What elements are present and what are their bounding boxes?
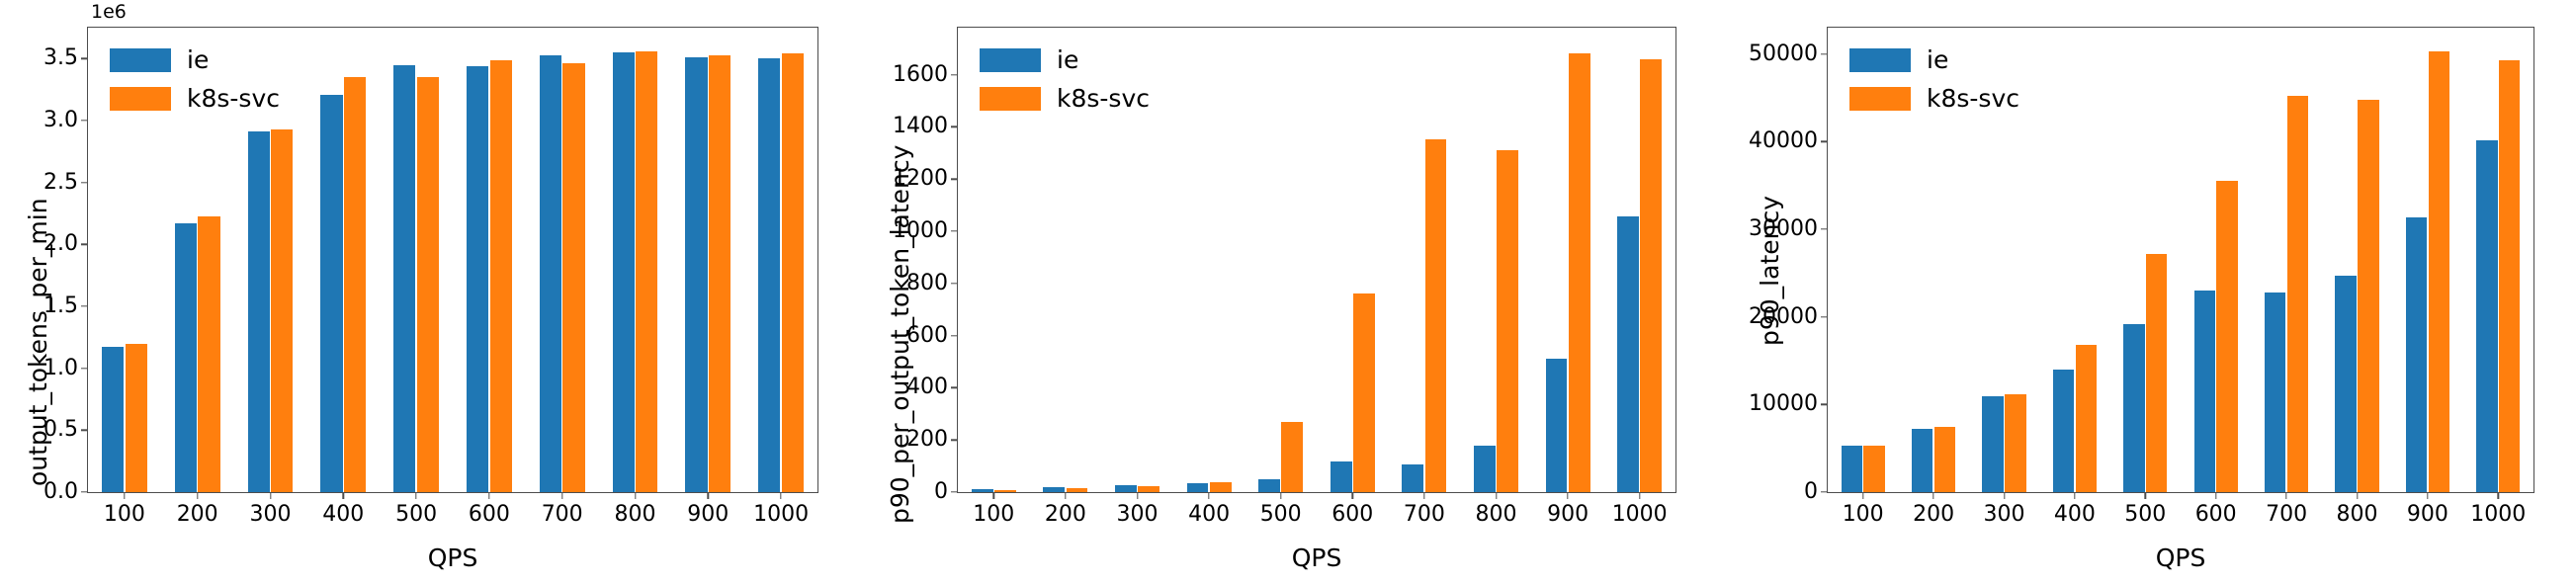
plot-axes-1: 0.00.51.01.52.02.53.03.51002003004005006… [87,27,818,493]
y-tick-mark-2-3 [951,335,958,336]
bar-ie-600 [1331,461,1352,492]
bar-k8s-svc-700 [2287,96,2308,492]
y-tick-mark-1-0 [81,491,88,492]
bar-ie-100 [102,347,124,492]
legend-item-ie[interactable]: ie [110,47,280,72]
x-tick-mark-3-900 [2427,492,2428,499]
x-tick-mark-1-800 [635,492,636,499]
legend-label-k8s-svc: k8s-svc [1927,86,2019,111]
bar-ie-100 [972,489,993,492]
bar-ie-1000 [758,58,780,492]
plot-axes-2: 0200400600800100012001400160010020030040… [957,27,1676,493]
x-tick-mark-2-400 [1208,492,1209,499]
bar-ie-700 [2265,292,2285,492]
y-tick-label-2-5: 1000 [893,220,958,242]
bar-ie-300 [248,131,270,492]
bar-k8s-svc-600 [2216,181,2237,492]
bar-ie-1000 [2476,140,2497,492]
x-tick-mark-2-600 [1352,492,1353,499]
bar-ie-200 [175,223,197,492]
bar-ie-600 [467,66,488,492]
bar-k8s-svc-600 [490,60,512,492]
legend-swatch-k8s-svc-icon [110,87,171,111]
y-tick-mark-2-7 [951,126,958,127]
y-tick-mark-1-4 [81,244,88,245]
bar-ie-700 [1402,464,1423,492]
bar-k8s-svc-100 [994,490,1016,492]
x-tick-mark-1-100 [124,492,125,499]
y-tick-mark-1-2 [81,368,88,369]
bar-k8s-svc-900 [2429,51,2449,492]
y-tick-mark-1-6 [81,120,88,121]
bar-ie-300 [1982,396,2003,492]
chart-panel-1: 1e6 output_tokens_per_min QPS 0.00.51.01… [0,0,858,585]
y-tick-label-3-2: 20000 [1749,306,1828,328]
y-tick-mark-1-5 [81,182,88,183]
y-tick-mark-2-5 [951,230,958,231]
bar-ie-500 [2123,324,2144,492]
y-tick-label-2-7: 1400 [893,116,958,137]
bar-ie-900 [685,57,707,492]
y-tick-mark-1-1 [81,430,88,431]
bar-k8s-svc-200 [1934,427,1955,492]
bar-k8s-svc-500 [2146,254,2167,492]
bar-k8s-svc-700 [1425,139,1447,492]
x-tick-mark-1-600 [488,492,489,499]
x-tick-mark-2-900 [1567,492,1568,499]
bar-ie-500 [1258,479,1280,492]
y-tick-mark-2-8 [951,74,958,75]
x-tick-mark-3-800 [2357,492,2358,499]
legend-3: ie k8s-svc [1849,47,2019,111]
bar-k8s-svc-800 [2358,100,2378,492]
bar-ie-800 [1474,446,1496,492]
y-tick-label-2-6: 1200 [893,168,958,190]
legend-label-ie: ie [1057,47,1078,72]
legend-label-k8s-svc: k8s-svc [187,86,280,111]
y-axis-offset-text-1: 1e6 [91,3,127,22]
y-tick-label-3-1: 10000 [1749,393,1828,415]
y-tick-mark-1-3 [81,305,88,306]
legend-item-ie[interactable]: ie [980,47,1150,72]
y-tick-mark-3-5 [1821,53,1828,54]
y-tick-label-3-4: 40000 [1749,130,1828,152]
bar-k8s-svc-100 [1863,446,1884,492]
bar-k8s-svc-1000 [782,53,804,492]
legend-item-k8s-svc[interactable]: k8s-svc [110,86,280,111]
y-tick-mark-3-4 [1821,141,1828,142]
x-tick-mark-2-800 [1496,492,1497,499]
bar-k8s-svc-400 [1210,482,1232,492]
x-tick-mark-2-500 [1280,492,1281,499]
legend-label-ie: ie [1927,47,1948,72]
x-tick-mark-2-300 [1137,492,1138,499]
y-tick-label-3-5: 50000 [1749,43,1828,65]
bar-k8s-svc-600 [1353,293,1375,492]
bar-k8s-svc-900 [709,55,730,492]
x-axis-label-2: QPS [957,543,1676,572]
chart-panel-3: p90_latency QPS 010000200003000040000500… [1716,0,2574,585]
y-tick-label-2-8: 1600 [893,64,958,86]
x-axis-label-1: QPS [87,543,818,572]
bar-ie-500 [393,65,415,492]
legend-swatch-ie-icon [110,48,171,72]
legend-item-k8s-svc[interactable]: k8s-svc [1849,86,2019,111]
bar-ie-300 [1115,485,1137,492]
bar-k8s-svc-800 [1497,150,1518,492]
bar-ie-600 [2194,291,2215,492]
bar-ie-900 [2406,217,2427,492]
x-tick-mark-3-400 [2074,492,2075,499]
bar-k8s-svc-1000 [1640,59,1662,492]
bar-ie-200 [1043,487,1065,492]
bar-k8s-svc-700 [562,63,584,492]
y-tick-mark-3-3 [1821,228,1828,229]
bar-ie-800 [2335,276,2356,492]
x-tick-mark-3-600 [2215,492,2216,499]
x-axis-label-3: QPS [1827,543,2534,572]
y-tick-mark-3-0 [1821,491,1828,492]
y-tick-label-3-3: 30000 [1749,218,1828,240]
legend-swatch-ie-icon [980,48,1041,72]
chart-panel-2: p90_per_output_token_latency QPS 0200400… [858,0,1716,585]
bar-k8s-svc-1000 [2499,60,2520,492]
legend-item-ie[interactable]: ie [1849,47,2019,72]
bar-k8s-svc-200 [198,216,219,492]
bar-k8s-svc-100 [126,344,147,492]
y-tick-mark-2-1 [951,439,958,440]
x-tick-mark-2-200 [1065,492,1066,499]
bar-ie-800 [613,52,635,492]
bar-k8s-svc-300 [271,129,293,492]
legend-1: ie k8s-svc [110,47,280,111]
bar-ie-100 [1842,446,1862,492]
bar-k8s-svc-300 [1138,486,1159,492]
legend-swatch-k8s-svc-icon [980,87,1041,111]
bar-ie-700 [540,55,561,492]
y-tick-mark-1-7 [81,58,88,59]
x-tick-mark-1-300 [270,492,271,499]
bar-ie-400 [1187,483,1209,492]
x-tick-mark-1-900 [708,492,709,499]
y-tick-mark-2-2 [951,387,958,388]
y-tick-mark-3-1 [1821,404,1828,405]
x-tick-mark-3-1000 [2498,492,2499,499]
x-tick-mark-3-100 [1862,492,1863,499]
y-tick-mark-2-0 [951,491,958,492]
legend-label-k8s-svc: k8s-svc [1057,86,1150,111]
y-tick-mark-2-6 [951,178,958,179]
legend-swatch-k8s-svc-icon [1849,87,1911,111]
bar-ie-1000 [1617,216,1639,492]
legend-label-ie: ie [187,47,209,72]
bar-ie-200 [1912,429,1932,492]
x-tick-mark-1-1000 [780,492,781,499]
x-tick-mark-2-700 [1423,492,1424,499]
x-tick-mark-1-400 [343,492,344,499]
x-tick-mark-2-1000 [1639,492,1640,499]
x-tick-mark-2-100 [993,492,994,499]
bar-k8s-svc-400 [2076,345,2097,492]
x-tick-mark-1-200 [197,492,198,499]
y-tick-mark-2-4 [951,283,958,284]
bar-k8s-svc-500 [417,77,439,492]
bar-k8s-svc-500 [1281,422,1303,492]
plot-axes-3: 0100002000030000400005000010020030040050… [1827,27,2534,493]
bar-ie-400 [320,95,342,492]
legend-2: ie k8s-svc [980,47,1150,111]
x-tick-mark-3-700 [2285,492,2286,499]
x-tick-mark-3-500 [2145,492,2146,499]
figure-canvas: 1e6 output_tokens_per_min QPS 0.00.51.01… [0,0,2576,585]
bar-k8s-svc-400 [344,77,366,492]
x-tick-mark-3-200 [1932,492,1933,499]
bar-ie-900 [1546,359,1568,492]
bar-k8s-svc-300 [2005,394,2025,492]
legend-item-k8s-svc[interactable]: k8s-svc [980,86,1150,111]
x-tick-mark-3-300 [2004,492,2005,499]
x-tick-mark-1-500 [415,492,416,499]
bar-k8s-svc-200 [1067,488,1088,492]
bar-k8s-svc-900 [1569,53,1590,492]
legend-swatch-ie-icon [1849,48,1911,72]
y-tick-mark-3-2 [1821,316,1828,317]
bar-ie-400 [2053,370,2074,492]
bar-k8s-svc-800 [636,51,657,492]
x-tick-mark-1-700 [561,492,562,499]
